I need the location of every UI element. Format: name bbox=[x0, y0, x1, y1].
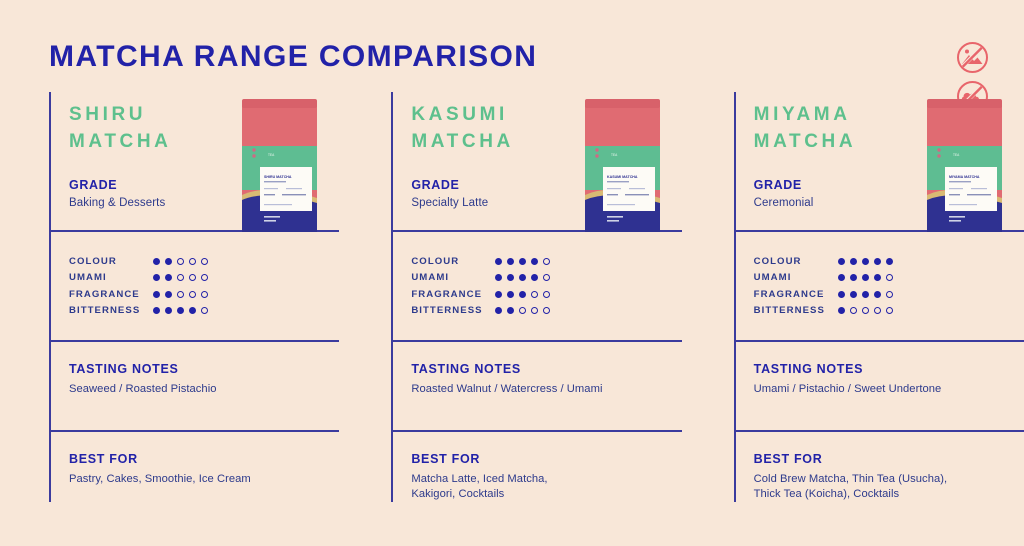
rating-label: COLOUR bbox=[411, 256, 495, 267]
grade-value: Baking & Desserts bbox=[69, 197, 165, 209]
rating-dots bbox=[495, 274, 550, 281]
rating-dot-empty bbox=[201, 307, 208, 314]
ratings-block: COLOUR UMAMI FRAGRANCE BITTERNESS bbox=[393, 232, 681, 342]
rating-row-umami: UMAMI bbox=[411, 270, 677, 287]
product-column-shiru: SHIRU MATCHA GRADE Baking & Desserts SHI… bbox=[49, 92, 339, 502]
product-pouch-image: KASUMI MATCHA TEA bbox=[581, 99, 664, 232]
rating-dot-filled bbox=[886, 258, 893, 265]
product-name-line2: MATCHA bbox=[754, 129, 857, 156]
rating-dot-empty bbox=[850, 307, 857, 314]
rating-dots bbox=[153, 291, 208, 298]
grade-label: GRADE bbox=[69, 178, 165, 192]
rating-dots bbox=[838, 274, 893, 281]
rating-dot-empty bbox=[886, 307, 893, 314]
rating-dot-empty bbox=[874, 307, 881, 314]
rating-dot-filled bbox=[153, 291, 160, 298]
rating-dots bbox=[153, 274, 208, 281]
rating-dot-empty bbox=[531, 307, 538, 314]
rating-label: FRAGRANCE bbox=[754, 289, 838, 300]
best-for-label: BEST FOR bbox=[754, 452, 1020, 466]
rating-dot-filled bbox=[850, 291, 857, 298]
rating-row-bitterness: BITTERNESS bbox=[411, 303, 677, 320]
rating-dot-empty bbox=[519, 307, 526, 314]
rating-label: COLOUR bbox=[754, 256, 838, 267]
rating-dot-filled bbox=[153, 258, 160, 265]
rating-dot-filled bbox=[838, 291, 845, 298]
best-for-block: BEST FOR Matcha Latte, Iced Matcha,Kakig… bbox=[393, 432, 681, 508]
rating-dot-empty bbox=[543, 307, 550, 314]
rating-dots bbox=[153, 307, 208, 314]
rating-dot-filled bbox=[495, 291, 502, 298]
rating-dot-filled bbox=[189, 307, 196, 314]
product-name: MIYAMA MATCHA bbox=[754, 102, 857, 156]
rating-dot-filled bbox=[153, 274, 160, 281]
comparison-columns: SHIRU MATCHA GRADE Baking & Desserts SHI… bbox=[0, 92, 1024, 502]
grade-value: Ceremonial bbox=[754, 197, 814, 209]
rating-row-umami: UMAMI bbox=[754, 270, 1020, 287]
rating-dot-empty bbox=[531, 291, 538, 298]
rating-dot-filled bbox=[838, 258, 845, 265]
rating-dot-filled bbox=[862, 274, 869, 281]
rating-dot-empty bbox=[543, 291, 550, 298]
rating-dots bbox=[838, 307, 893, 314]
rating-dot-filled bbox=[874, 274, 881, 281]
rating-label: FRAGRANCE bbox=[411, 289, 495, 300]
rating-dots bbox=[838, 291, 893, 298]
rating-dot-filled bbox=[862, 258, 869, 265]
rating-dot-filled bbox=[519, 291, 526, 298]
rating-dot-filled bbox=[507, 291, 514, 298]
rating-dot-filled bbox=[177, 307, 184, 314]
rating-label: FRAGRANCE bbox=[69, 289, 153, 300]
no-image-placeholder-icon bbox=[957, 42, 988, 73]
grade-label: GRADE bbox=[411, 178, 488, 192]
rating-dot-filled bbox=[850, 274, 857, 281]
svg-text:MIYAMA MATCHA: MIYAMA MATCHA bbox=[949, 175, 980, 179]
rating-dot-filled bbox=[507, 274, 514, 281]
tasting-notes-label: TASTING NOTES bbox=[754, 362, 1020, 376]
rating-dot-empty bbox=[201, 274, 208, 281]
rating-label: BITTERNESS bbox=[754, 305, 838, 316]
rating-dot-filled bbox=[519, 258, 526, 265]
tasting-notes-block: TASTING NOTES Roasted Walnut / Watercres… bbox=[393, 342, 681, 432]
product-name-line2: MATCHA bbox=[69, 129, 172, 156]
product-header: MIYAMA MATCHA GRADE Ceremonial MIYAMA MA… bbox=[736, 92, 1024, 232]
product-name-line1: MIYAMA bbox=[754, 102, 857, 129]
tasting-notes-label: TASTING NOTES bbox=[69, 362, 335, 376]
rating-dot-empty bbox=[189, 274, 196, 281]
rating-row-fragrance: FRAGRANCE bbox=[411, 286, 677, 303]
product-name-line1: SHIRU bbox=[69, 102, 172, 129]
svg-text:KASUMI MATCHA: KASUMI MATCHA bbox=[607, 175, 638, 179]
ratings-block: COLOUR UMAMI FRAGRANCE BITTERNESS bbox=[736, 232, 1024, 342]
tasting-notes-value: Seaweed / Roasted Pistachio bbox=[69, 382, 335, 397]
rating-label: BITTERNESS bbox=[411, 305, 495, 316]
rating-dot-empty bbox=[189, 258, 196, 265]
best-for-value: Cold Brew Matcha, Thin Tea (Usucha),Thic… bbox=[754, 472, 1020, 502]
svg-text:TEA: TEA bbox=[611, 153, 618, 157]
product-pouch-image: SHIRU MATCHA TEA bbox=[238, 99, 321, 232]
rating-dot-filled bbox=[874, 291, 881, 298]
rating-dot-empty bbox=[177, 291, 184, 298]
tasting-notes-block: TASTING NOTES Seaweed / Roasted Pistachi… bbox=[51, 342, 339, 432]
rating-dot-filled bbox=[495, 274, 502, 281]
rating-dot-empty bbox=[201, 258, 208, 265]
product-name: SHIRU MATCHA bbox=[69, 102, 172, 156]
rating-label: UMAMI bbox=[411, 272, 495, 283]
tasting-notes-value: Roasted Walnut / Watercress / Umami bbox=[411, 382, 677, 397]
best-for-block: BEST FOR Cold Brew Matcha, Thin Tea (Usu… bbox=[736, 432, 1024, 508]
rating-row-fragrance: FRAGRANCE bbox=[69, 286, 335, 303]
rating-dot-filled bbox=[495, 307, 502, 314]
product-column-kasumi: KASUMI MATCHA GRADE Specialty Latte KASU… bbox=[391, 92, 681, 502]
rating-dot-filled bbox=[838, 307, 845, 314]
rating-dot-filled bbox=[531, 274, 538, 281]
rating-dots bbox=[495, 258, 550, 265]
best-for-label: BEST FOR bbox=[411, 452, 677, 466]
tasting-notes-label: TASTING NOTES bbox=[411, 362, 677, 376]
rating-label: UMAMI bbox=[69, 272, 153, 283]
product-pouch-image: MIYAMA MATCHA TEA bbox=[923, 99, 1006, 232]
rating-label: UMAMI bbox=[754, 272, 838, 283]
rating-dot-filled bbox=[519, 274, 526, 281]
rating-dot-filled bbox=[850, 258, 857, 265]
rating-dot-empty bbox=[177, 258, 184, 265]
rating-dot-filled bbox=[874, 258, 881, 265]
grade-label: GRADE bbox=[754, 178, 814, 192]
rating-row-bitterness: BITTERNESS bbox=[754, 303, 1020, 320]
grade-block: GRADE Specialty Latte bbox=[411, 178, 488, 209]
tasting-notes-block: TASTING NOTES Umami / Pistachio / Sweet … bbox=[736, 342, 1024, 432]
rating-dot-empty bbox=[543, 258, 550, 265]
product-header: KASUMI MATCHA GRADE Specialty Latte KASU… bbox=[393, 92, 681, 232]
ratings-block: COLOUR UMAMI FRAGRANCE BITTERNESS bbox=[51, 232, 339, 342]
rating-dot-filled bbox=[862, 291, 869, 298]
rating-label: COLOUR bbox=[69, 256, 153, 267]
grade-block: GRADE Baking & Desserts bbox=[69, 178, 165, 209]
rating-dot-filled bbox=[165, 258, 172, 265]
product-name: KASUMI MATCHA bbox=[411, 102, 514, 156]
rating-dot-empty bbox=[189, 291, 196, 298]
rating-dots bbox=[153, 258, 208, 265]
grade-value: Specialty Latte bbox=[411, 197, 488, 209]
best-for-value: Pastry, Cakes, Smoothie, Ice Cream bbox=[69, 472, 335, 487]
rating-dot-filled bbox=[531, 258, 538, 265]
rating-dots bbox=[495, 291, 550, 298]
rating-dot-filled bbox=[153, 307, 160, 314]
rating-dot-empty bbox=[543, 274, 550, 281]
product-column-miyama: MIYAMA MATCHA GRADE Ceremonial MIYAMA MA… bbox=[734, 92, 1024, 502]
rating-row-colour: COLOUR bbox=[69, 253, 335, 270]
best-for-value: Matcha Latte, Iced Matcha,Kakigori, Cock… bbox=[411, 472, 677, 502]
best-for-block: BEST FOR Pastry, Cakes, Smoothie, Ice Cr… bbox=[51, 432, 339, 508]
best-for-label: BEST FOR bbox=[69, 452, 335, 466]
rating-row-fragrance: FRAGRANCE bbox=[754, 286, 1020, 303]
rating-dots bbox=[838, 258, 893, 265]
tasting-notes-value: Umami / Pistachio / Sweet Undertone bbox=[754, 382, 1020, 397]
rating-dot-filled bbox=[838, 274, 845, 281]
rating-label: BITTERNESS bbox=[69, 305, 153, 316]
rating-dot-filled bbox=[495, 258, 502, 265]
product-header: SHIRU MATCHA GRADE Baking & Desserts SHI… bbox=[51, 92, 339, 232]
product-name-line2: MATCHA bbox=[411, 129, 514, 156]
rating-dot-filled bbox=[165, 307, 172, 314]
grade-block: GRADE Ceremonial bbox=[754, 178, 814, 209]
rating-row-umami: UMAMI bbox=[69, 270, 335, 287]
rating-row-colour: COLOUR bbox=[754, 253, 1020, 270]
page-title: MATCHA RANGE COMPARISON bbox=[49, 40, 537, 74]
svg-text:SHIRU MATCHA: SHIRU MATCHA bbox=[264, 175, 292, 179]
rating-dot-empty bbox=[862, 307, 869, 314]
rating-row-bitterness: BITTERNESS bbox=[69, 303, 335, 320]
rating-row-colour: COLOUR bbox=[411, 253, 677, 270]
rating-dot-empty bbox=[201, 291, 208, 298]
svg-text:TEA: TEA bbox=[268, 153, 275, 157]
rating-dot-empty bbox=[177, 274, 184, 281]
svg-text:TEA: TEA bbox=[953, 153, 960, 157]
rating-dot-filled bbox=[165, 274, 172, 281]
rating-dot-empty bbox=[886, 274, 893, 281]
rating-dot-empty bbox=[886, 291, 893, 298]
rating-dots bbox=[495, 307, 550, 314]
rating-dot-filled bbox=[507, 258, 514, 265]
product-name-line1: KASUMI bbox=[411, 102, 514, 129]
rating-dot-filled bbox=[165, 291, 172, 298]
rating-dot-filled bbox=[507, 307, 514, 314]
